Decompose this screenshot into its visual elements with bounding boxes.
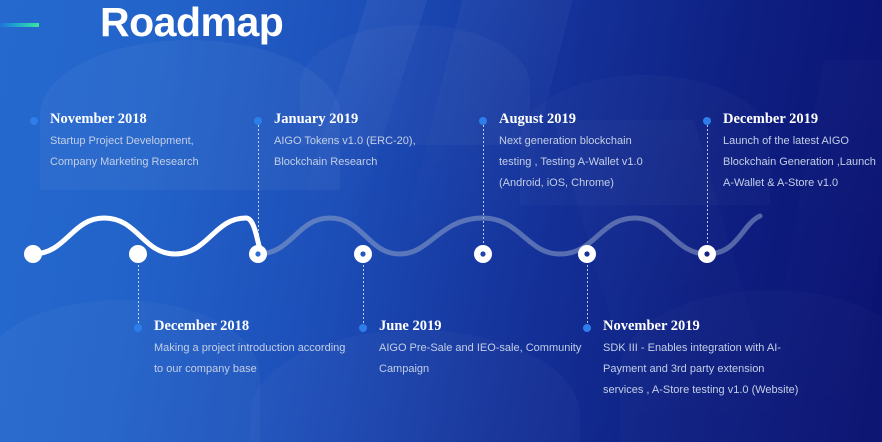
milestone-header: August 2019 <box>479 111 643 127</box>
description-line: Making a project introduction according <box>154 338 345 359</box>
milestone-description: Launch of the latest AIGO Blockchain Gen… <box>723 131 876 194</box>
milestone-header: November 2018 <box>30 111 199 127</box>
description-line: Company Marketing Research <box>50 152 199 173</box>
description-line: services , A-Store testing v1.0 (Website… <box>603 380 798 401</box>
description-line: Launch of the latest AIGO <box>723 131 876 152</box>
milestone-date: November 2019 <box>603 318 700 334</box>
timeline-node-inner-dot <box>584 251 589 256</box>
page-title: Roadmap <box>100 0 283 46</box>
timeline-node-inner-dot <box>255 251 260 256</box>
bullet-dot-icon <box>134 324 142 332</box>
description-line: AIGO Tokens v1.0 (ERC-20), <box>274 131 416 152</box>
description-line: (Android, iOS, Chrome) <box>499 173 643 194</box>
milestone-description: SDK III - Enables integration with AI- P… <box>603 338 798 401</box>
description-line: SDK III - Enables integration with AI- <box>603 338 798 359</box>
timeline-node-inner-dot <box>480 251 485 256</box>
timeline-node-december-2018[interactable] <box>129 245 147 263</box>
milestone-header: January 2019 <box>254 111 416 127</box>
bullet-dot-icon <box>30 117 38 125</box>
milestone-header: December 2019 <box>703 111 876 127</box>
milestone-header: November 2019 <box>583 318 798 334</box>
roadmap-infographic: Roadmap November 2018 Startup Proje <box>0 0 882 442</box>
description-line: AIGO Pre-Sale and IEO-sale, Community <box>379 338 581 359</box>
milestone-date: December 2018 <box>154 318 249 334</box>
milestone-june-2019[interactable]: June 2019 AIGO Pre-Sale and IEO-sale, Co… <box>359 318 581 380</box>
milestone-date: August 2019 <box>499 111 576 127</box>
milestone-august-2019[interactable]: August 2019 Next generation blockchain t… <box>479 111 643 194</box>
milestone-december-2018[interactable]: December 2018 Making a project introduct… <box>134 318 345 380</box>
bullet-dot-icon <box>479 117 487 125</box>
description-line: testing , Testing A-Wallet v1.0 <box>499 152 643 173</box>
milestone-date: December 2019 <box>723 111 818 127</box>
description-line: Startup Project Development, <box>50 131 199 152</box>
milestone-january-2019[interactable]: January 2019 AIGO Tokens v1.0 (ERC-20), … <box>254 111 416 173</box>
bullet-dot-icon <box>583 324 591 332</box>
bullet-dot-icon <box>254 117 262 125</box>
description-line: to our company base <box>154 359 345 380</box>
milestone-description: Making a project introduction according … <box>154 338 345 380</box>
milestone-date: January 2019 <box>274 111 358 127</box>
timeline-node-inner-dot <box>704 251 709 256</box>
milestone-header: December 2018 <box>134 318 345 334</box>
milestone-description: Next generation blockchain testing , Tes… <box>499 131 643 194</box>
milestone-description: Startup Project Development, Company Mar… <box>50 131 199 173</box>
timeline-wave <box>0 210 882 300</box>
milestone-november-2019[interactable]: November 2019 SDK III - Enables integrat… <box>583 318 798 401</box>
wave-active-segment <box>33 218 262 254</box>
bullet-dot-icon <box>703 117 711 125</box>
description-line: Blockchain Research <box>274 152 416 173</box>
milestone-date: June 2019 <box>379 318 441 334</box>
bullet-dot-icon <box>359 324 367 332</box>
timeline-node-november-2018[interactable] <box>24 245 42 263</box>
milestone-november-2018[interactable]: November 2018 Startup Project Developmen… <box>30 111 199 173</box>
milestone-header: June 2019 <box>359 318 581 334</box>
timeline-node-inner-dot <box>360 251 365 256</box>
milestone-date: November 2018 <box>50 111 147 127</box>
description-line: Payment and 3rd party extension <box>603 359 798 380</box>
milestone-description: AIGO Pre-Sale and IEO-sale, Community Ca… <box>379 338 581 380</box>
accent-bar <box>0 23 39 27</box>
description-line: Blockchain Generation ,Launch <box>723 152 876 173</box>
milestone-description: AIGO Tokens v1.0 (ERC-20), Blockchain Re… <box>274 131 416 173</box>
wave-inactive-segment <box>258 216 760 254</box>
description-line: A-Wallet & A-Store v1.0 <box>723 173 876 194</box>
milestone-december-2019[interactable]: December 2019 Launch of the latest AIGO … <box>703 111 876 194</box>
description-line: Campaign <box>379 359 581 380</box>
description-line: Next generation blockchain <box>499 131 643 152</box>
